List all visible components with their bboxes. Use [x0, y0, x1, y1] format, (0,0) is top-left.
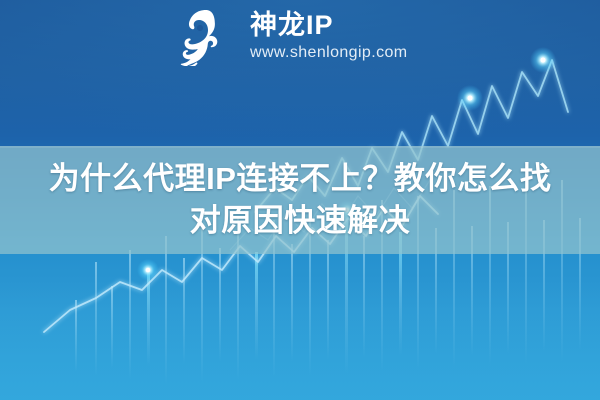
brand-text: 神龙IP www.shenlongip.com — [250, 10, 408, 64]
brand-logo[interactable]: 神龙IP www.shenlongip.com — [176, 8, 408, 66]
brand-website: www.shenlongip.com — [250, 42, 408, 64]
brand-name: 神龙IP — [250, 10, 408, 40]
headline-band: 为什么代理IP连接不上？教你怎么找 对原因快速解决 — [0, 146, 600, 254]
dragon-head-icon — [176, 8, 238, 66]
headline-text: 为什么代理IP连接不上？教你怎么找 对原因快速解决 — [20, 158, 580, 242]
band-top-edge — [0, 146, 600, 148]
promo-banner: 神龙IP www.shenlongip.com 为什么代理IP连接不上？教你怎么… — [0, 0, 600, 400]
